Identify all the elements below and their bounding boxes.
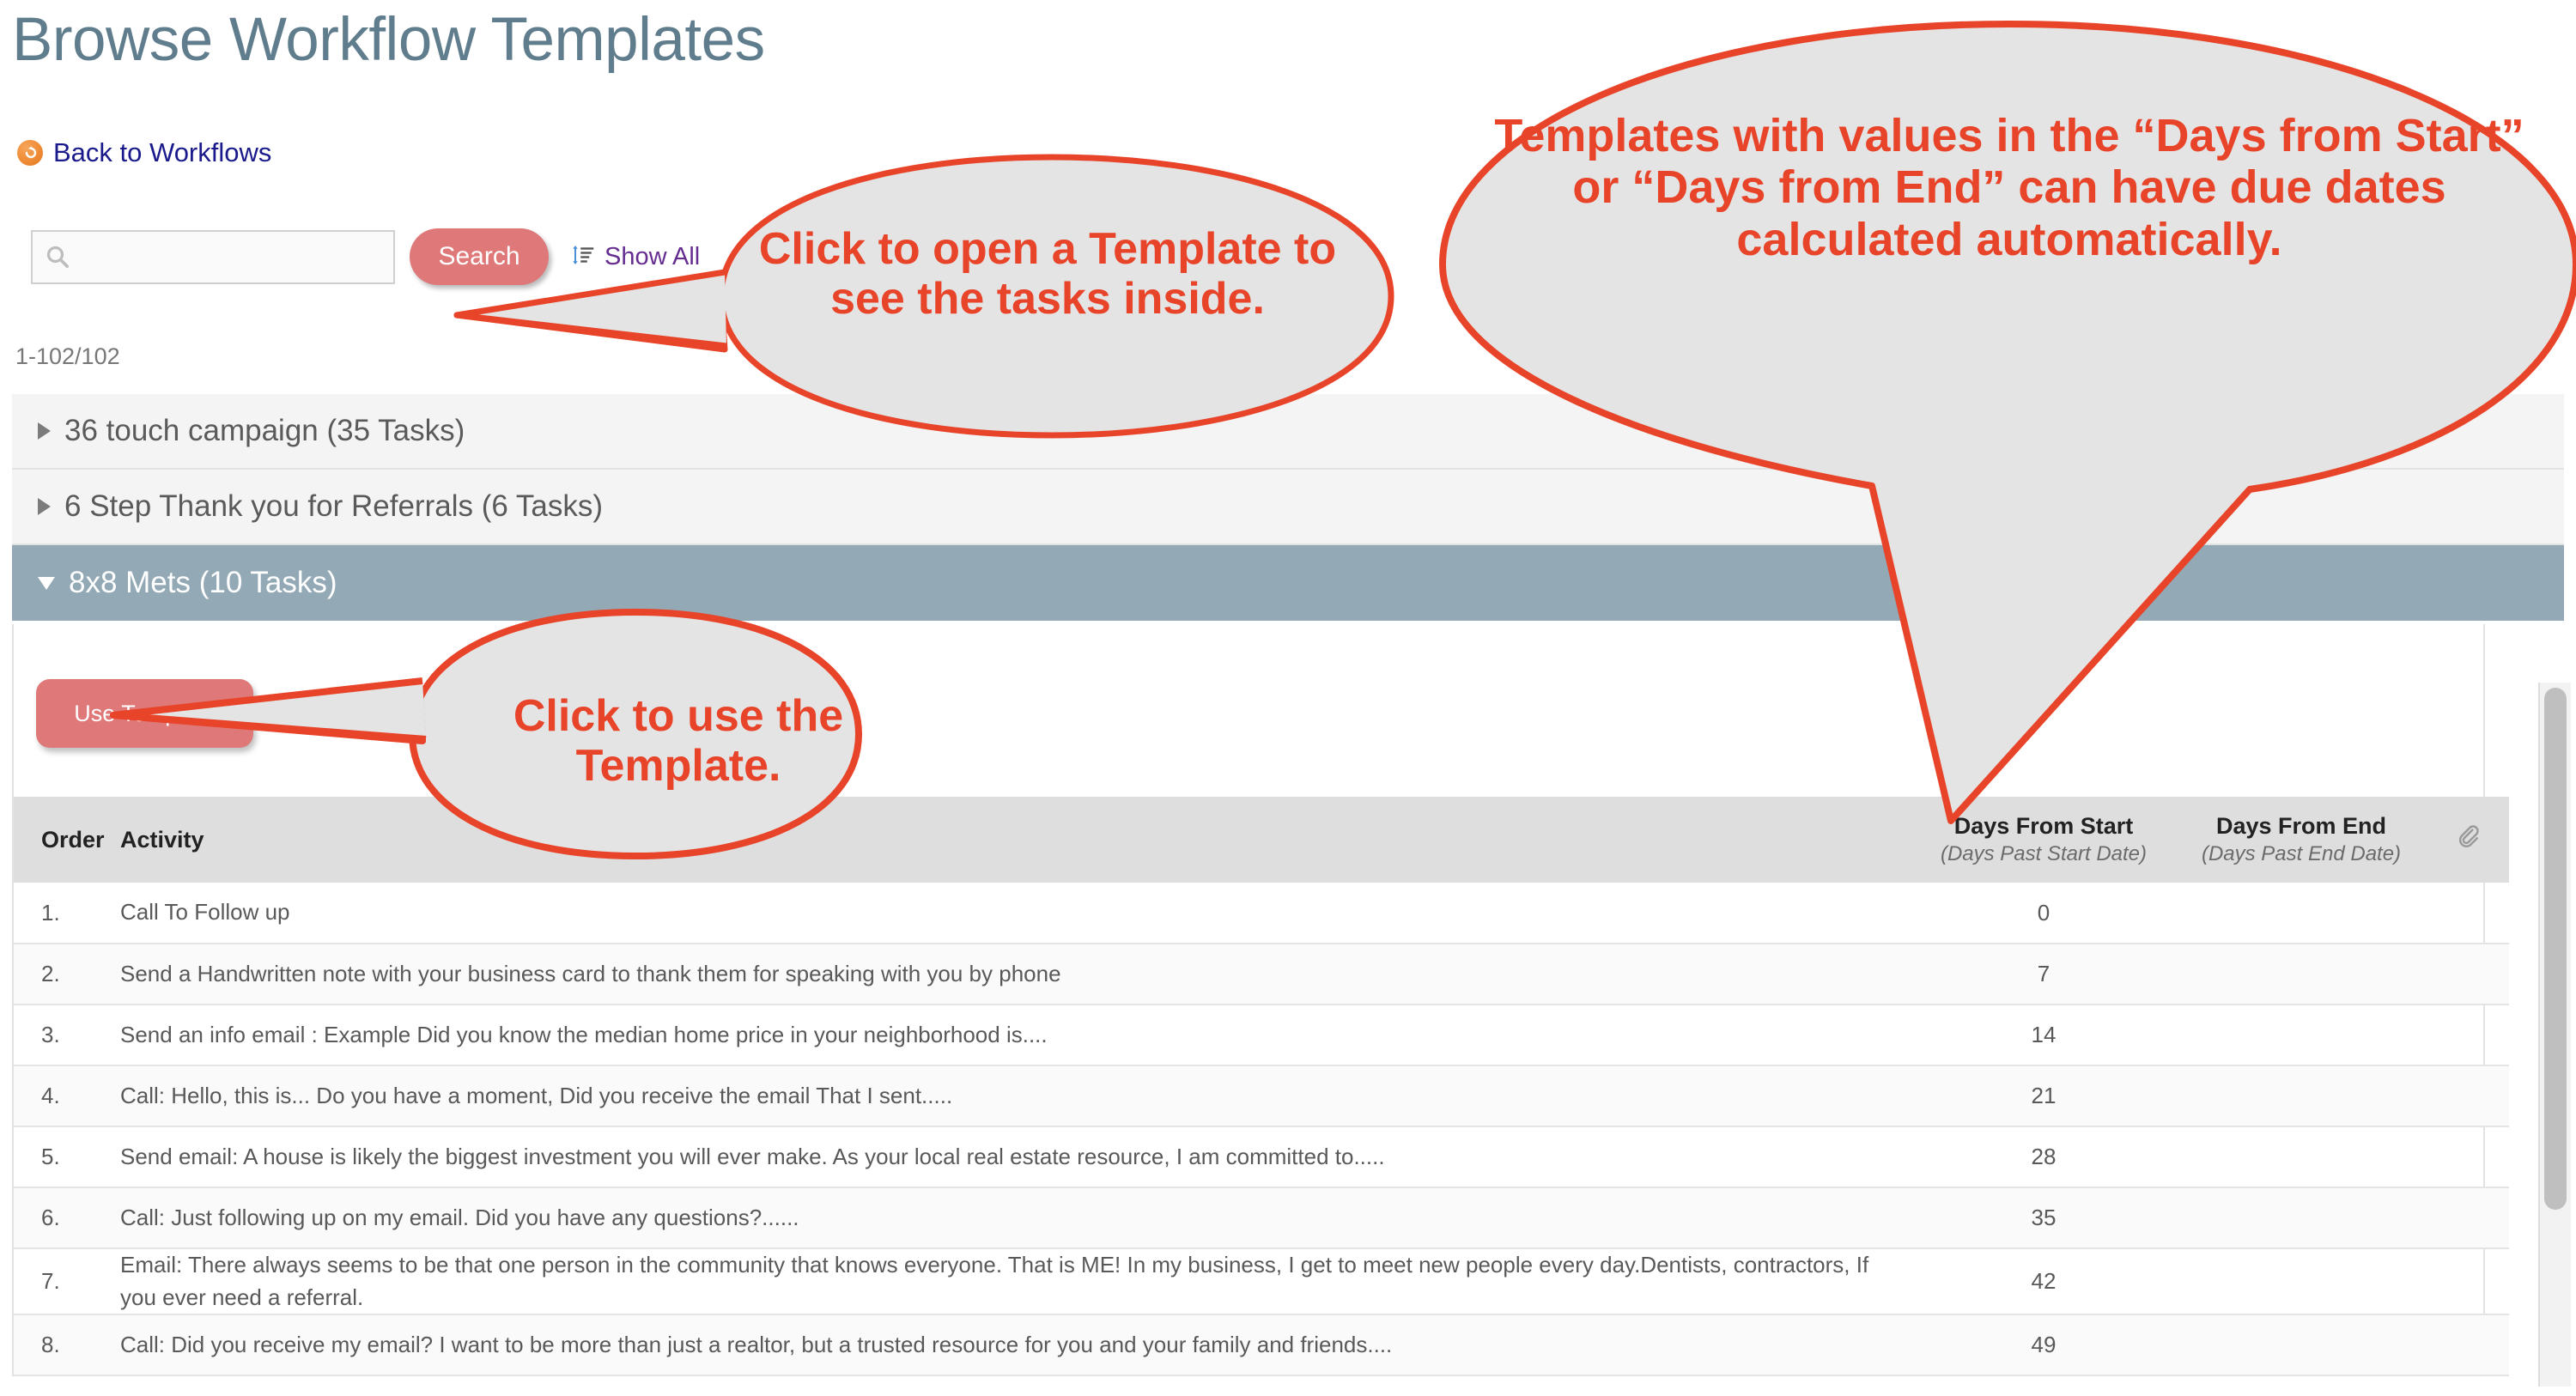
task-days-from-end [2172, 1248, 2430, 1314]
task-days-from-end [2172, 1065, 2430, 1126]
task-attachment-cell [2430, 1005, 2509, 1065]
task-days-from-end [2172, 1126, 2430, 1187]
column-header-days-from-end-label: Days From End [2216, 813, 2386, 839]
column-header-days-from-start-sub: (Days Past Start Date) [1915, 842, 2172, 866]
callout-open-template-text: Click to open a Template to see the task… [730, 224, 1365, 324]
triangle-down-icon [38, 577, 55, 590]
task-days-from-end [2172, 883, 2430, 944]
template-row-8x8-mets[interactable]: 8x8 Mets (10 Tasks) [12, 545, 2564, 621]
task-order: 3. [14, 1005, 120, 1065]
task-days-from-start: 28 [1915, 1126, 2172, 1187]
task-attachment-cell [2430, 1314, 2509, 1375]
task-order: 1. [14, 883, 120, 944]
search-toolbar: Search Show All [31, 228, 700, 285]
task-activity: Send an info email : Example Did you kno… [120, 1005, 1915, 1065]
task-table-row[interactable]: 7.Email: There always seems to be that o… [14, 1248, 2509, 1314]
template-row-36-touch-campaign[interactable]: 36 touch campaign (35 Tasks) [12, 394, 2564, 470]
task-table-row[interactable]: 5.Send email: A house is likely the bigg… [14, 1126, 2509, 1187]
column-header-days-from-end-sub: (Days Past End Date) [2172, 842, 2430, 866]
task-attachment-cell [2430, 1187, 2509, 1248]
task-order: 6. [14, 1187, 120, 1248]
task-attachment-cell [2430, 883, 2509, 944]
template-detail-panel: Use Template Order Activity Days From St… [12, 624, 2485, 1376]
magnifier-icon [45, 244, 70, 270]
task-activity: Call: Just following up on my email. Did… [120, 1187, 1915, 1248]
task-attachment-cell [2430, 1126, 2509, 1187]
task-days-from-end [2172, 1005, 2430, 1065]
task-attachment-cell [2430, 1065, 2509, 1126]
undo-arrow-icon [17, 140, 43, 166]
paperclip-icon [2455, 831, 2484, 857]
task-table-row[interactable]: 4.Call: Hello, this is... Do you have a … [14, 1065, 2509, 1126]
task-days-from-start: 7 [1915, 944, 2172, 1005]
result-count: 1-102/102 [15, 343, 120, 370]
task-table-row[interactable]: 8.Call: Did you receive my email? I want… [14, 1314, 2509, 1375]
triangle-right-icon [38, 422, 51, 440]
search-field-wrap[interactable] [31, 230, 395, 284]
show-all-link[interactable]: Show All [571, 242, 700, 272]
triangle-right-icon [38, 498, 51, 515]
back-to-workflows-label: Back to Workflows [53, 137, 271, 168]
task-table-row[interactable]: 2.Send a Handwritten note with your busi… [14, 944, 2509, 1005]
task-activity: Send email: A house is likely the bigges… [120, 1126, 1915, 1187]
task-order: 2. [14, 944, 120, 1005]
task-days-from-start: 0 [1915, 883, 2172, 944]
task-days-from-end [2172, 1314, 2430, 1375]
template-label: 6 Step Thank you for Referrals (6 Tasks) [64, 489, 603, 524]
task-table-row[interactable]: 1.Call To Follow up0 [14, 883, 2509, 944]
task-table-row[interactable]: 3.Send an info email : Example Did you k… [14, 1005, 2509, 1065]
sort-list-icon [571, 242, 597, 272]
task-activity: Call: Did you receive my email? I want t… [120, 1314, 1915, 1375]
task-activity: Call To Follow up [120, 883, 1915, 944]
search-button[interactable]: Search [410, 228, 549, 285]
task-order: 5. [14, 1126, 120, 1187]
column-header-activity: Activity [120, 797, 1915, 883]
task-activity: Call: Hello, this is... Do you have a mo… [120, 1065, 1915, 1126]
template-label: 36 touch campaign (35 Tasks) [64, 414, 465, 448]
task-activity: Send a Handwritten note with your busine… [120, 944, 1915, 1005]
vertical-scrollbar-thumb[interactable] [2544, 688, 2567, 1210]
search-input[interactable] [77, 232, 390, 284]
task-days-from-start: 42 [1915, 1248, 2172, 1314]
column-header-days-from-start: Days From Start (Days Past Start Date) [1915, 797, 2172, 883]
column-header-days-from-start-label: Days From Start [1954, 813, 2134, 839]
use-template-button[interactable]: Use Template [36, 679, 253, 748]
task-table-header-row: Order Activity Days From Start (Days Pas… [14, 797, 2509, 883]
show-all-label: Show All [605, 243, 700, 271]
back-to-workflows-link[interactable]: Back to Workflows [17, 137, 271, 168]
task-days-from-start: 14 [1915, 1005, 2172, 1065]
page-title: Browse Workflow Templates [12, 5, 765, 75]
task-attachment-cell [2430, 1248, 2509, 1314]
template-label: 8x8 Mets (10 Tasks) [69, 566, 337, 600]
column-header-attachment [2430, 797, 2509, 883]
template-row-6-step-thank-you[interactable]: 6 Step Thank you for Referrals (6 Tasks) [12, 470, 2564, 545]
task-order: 8. [14, 1314, 120, 1375]
template-list: 36 touch campaign (35 Tasks) 6 Step Than… [12, 394, 2564, 621]
callout-days-note-text: Templates with values in the “Days from … [1477, 110, 2542, 265]
task-activity: Email: There always seems to be that one… [120, 1248, 1915, 1314]
task-order: 7. [14, 1248, 120, 1314]
task-days-from-start: 49 [1915, 1314, 2172, 1375]
column-header-order: Order [14, 797, 120, 883]
task-order: 4. [14, 1065, 120, 1126]
vertical-scrollbar-track[interactable] [2538, 683, 2571, 1387]
task-table: Order Activity Days From Start (Days Pas… [14, 797, 2509, 1376]
task-days-from-end [2172, 1187, 2430, 1248]
task-days-from-end [2172, 944, 2430, 1005]
task-days-from-start: 21 [1915, 1065, 2172, 1126]
task-table-row[interactable]: 6.Call: Just following up on my email. D… [14, 1187, 2509, 1248]
task-days-from-start: 35 [1915, 1187, 2172, 1248]
column-header-days-from-end: Days From End (Days Past End Date) [2172, 797, 2430, 883]
task-attachment-cell [2430, 944, 2509, 1005]
